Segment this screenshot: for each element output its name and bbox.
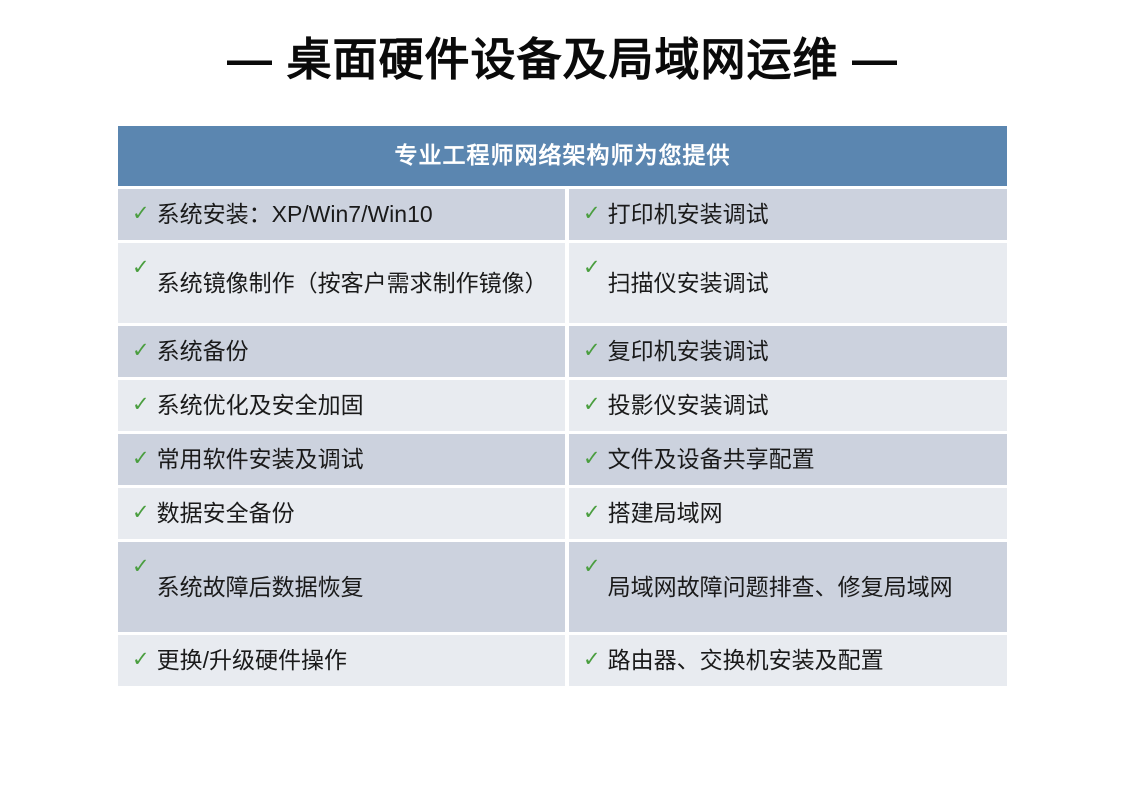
check-icon: ✓: [132, 641, 150, 670]
service-cell-left: ✓系统镜像制作（按客户需求制作镜像）: [118, 243, 565, 323]
check-icon: ✓: [132, 195, 150, 224]
check-icon: ✓: [132, 494, 150, 523]
check-icon: ✓: [583, 440, 601, 469]
table-row: ✓系统镜像制作（按客户需求制作镜像）✓扫描仪安装调试: [118, 243, 1007, 323]
check-icon: ✓: [132, 332, 150, 361]
service-cell-left: ✓系统备份: [118, 326, 565, 377]
check-icon: ✓: [583, 195, 601, 224]
service-label: 常用软件安装及调试: [157, 443, 555, 476]
table-row: ✓系统备份✓复印机安装调试: [118, 326, 1007, 377]
table-row: ✓系统优化及安全加固✓投影仪安装调试: [118, 380, 1007, 431]
table-row: ✓常用软件安装及调试✓文件及设备共享配置: [118, 434, 1007, 485]
service-cell-left: ✓系统故障后数据恢复: [118, 542, 565, 632]
service-cell-left: ✓更换/升级硬件操作: [118, 635, 565, 686]
check-icon: ✓: [132, 440, 150, 469]
service-label: 打印机安装调试: [608, 198, 997, 231]
check-icon: ✓: [583, 548, 601, 577]
service-label: 系统备份: [157, 335, 555, 368]
page-title: — 桌面硬件设备及局域网运维 —: [0, 32, 1125, 88]
check-icon: ✓: [583, 494, 601, 523]
service-cell-right: ✓文件及设备共享配置: [569, 434, 1007, 485]
service-cell-right: ✓路由器、交换机安装及配置: [569, 635, 1007, 686]
service-label: 数据安全备份: [157, 497, 555, 530]
check-icon: ✓: [583, 641, 601, 670]
service-label: 系统镜像制作（按客户需求制作镜像）: [157, 267, 555, 300]
check-icon: ✓: [132, 548, 150, 577]
service-cell-right: ✓扫描仪安装调试: [569, 243, 1007, 323]
service-label: 文件及设备共享配置: [608, 443, 997, 476]
service-cell-left: ✓常用软件安装及调试: [118, 434, 565, 485]
service-cell-left: ✓数据安全备份: [118, 488, 565, 539]
service-cell-left: ✓系统优化及安全加固: [118, 380, 565, 431]
table-row: ✓数据安全备份✓搭建局域网: [118, 488, 1007, 539]
service-cell-right: ✓局域网故障问题排查、修复局域网: [569, 542, 1007, 632]
service-cell-right: ✓打印机安装调试: [569, 189, 1007, 240]
check-icon: ✓: [132, 249, 150, 278]
table-row: ✓系统故障后数据恢复✓局域网故障问题排查、修复局域网: [118, 542, 1007, 632]
service-cell-right: ✓投影仪安装调试: [569, 380, 1007, 431]
check-icon: ✓: [583, 332, 601, 361]
service-label: 搭建局域网: [608, 497, 997, 530]
service-label: 扫描仪安装调试: [608, 267, 997, 300]
service-label: 投影仪安装调试: [608, 389, 997, 422]
service-label: 系统故障后数据恢复: [157, 571, 555, 604]
slide-root: { "slide": { "title": "— 桌面硬件设备及局域网运维 —"…: [0, 0, 1125, 794]
service-label: 更换/升级硬件操作: [157, 644, 555, 677]
service-label: 局域网故障问题排查、修复局域网: [608, 571, 997, 604]
check-icon: ✓: [583, 249, 601, 278]
service-label: 复印机安装调试: [608, 335, 997, 368]
service-cell-right: ✓搭建局域网: [569, 488, 1007, 539]
services-table: 专业工程师网络架构师为您提供 ✓系统安装：XP/Win7/Win10✓打印机安装…: [118, 126, 1007, 686]
check-icon: ✓: [583, 386, 601, 415]
table-header: 专业工程师网络架构师为您提供: [118, 126, 1007, 186]
check-icon: ✓: [132, 386, 150, 415]
table-row: ✓更换/升级硬件操作✓路由器、交换机安装及配置: [118, 635, 1007, 686]
table-body: ✓系统安装：XP/Win7/Win10✓打印机安装调试✓系统镜像制作（按客户需求…: [118, 189, 1007, 686]
service-label: 系统优化及安全加固: [157, 389, 555, 422]
table-row: ✓系统安装：XP/Win7/Win10✓打印机安装调试: [118, 189, 1007, 240]
service-cell-left: ✓系统安装：XP/Win7/Win10: [118, 189, 565, 240]
service-label: 路由器、交换机安装及配置: [608, 644, 997, 677]
service-label: 系统安装：XP/Win7/Win10: [157, 198, 555, 231]
service-cell-right: ✓复印机安装调试: [569, 326, 1007, 377]
